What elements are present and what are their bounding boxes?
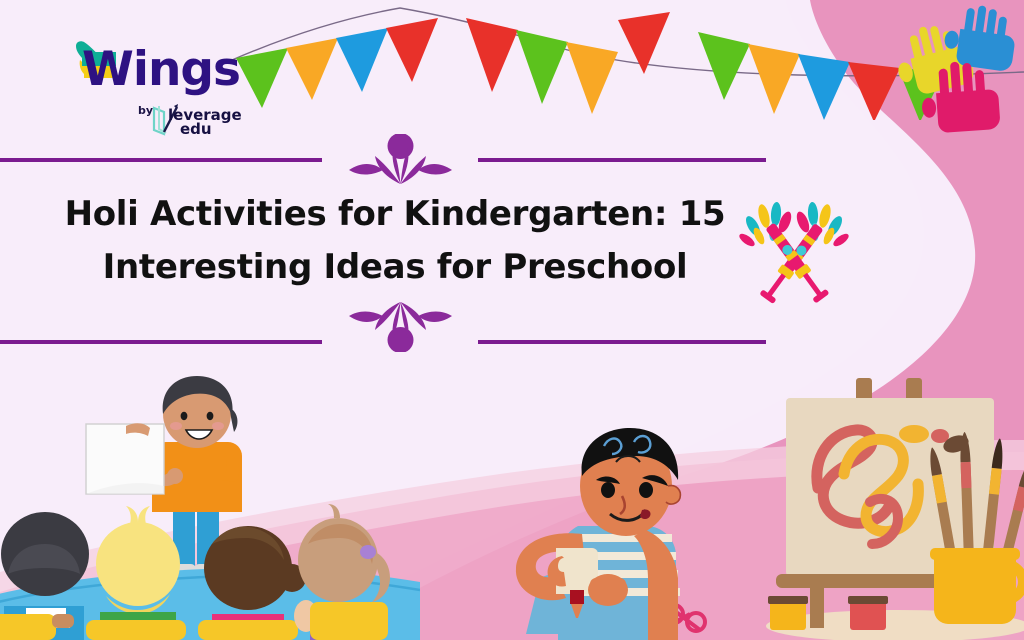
wings-leverage-edu-logo[interactable]: Wings by leverage edu (62, 28, 242, 138)
bunting-flag-group (236, 12, 944, 120)
logo-leverage-edu-text: leverage edu (168, 108, 242, 137)
seated-child-4 (294, 504, 390, 640)
easel-leg-left (810, 584, 824, 628)
colored-handprints (880, 0, 1024, 142)
holi-activities-banner: Wings by leverage edu (0, 0, 1024, 640)
seated-child-2 (86, 506, 186, 640)
craft-child-hand-right (588, 574, 628, 606)
rule-bottom-left (0, 340, 322, 344)
logo-wings-text: Wings (82, 46, 240, 93)
paint-jar-red (848, 596, 888, 630)
brush-mug (930, 548, 1024, 624)
floral-ornament-bottom-icon (333, 300, 468, 352)
rule-bottom-right (478, 340, 766, 344)
craft-child-head (580, 428, 680, 536)
floral-ornament-top-icon (333, 134, 468, 186)
title-line-2: Interesting Ideas for Preschool (0, 241, 790, 294)
crossed-pichkari-icon (735, 196, 853, 316)
title-line-1: Holi Activities for Kindergarten: 15 (0, 188, 790, 241)
painting-easel-illustration (748, 352, 1024, 640)
kids-classroom-illustration (0, 368, 420, 640)
rule-top-left (0, 158, 322, 162)
seated-child-1 (0, 512, 89, 640)
easel-tray (776, 574, 944, 588)
paint-jar-yellow (768, 596, 808, 630)
page-title: Holi Activities for Kindergarten: 15 Int… (0, 188, 790, 293)
logo-edu-word: edu (180, 122, 242, 136)
rule-top-right (478, 158, 766, 162)
title-block: Holi Activities for Kindergarten: 15 Int… (0, 150, 790, 365)
seated-child-3 (198, 526, 306, 640)
craft-child-illustration (430, 428, 740, 640)
